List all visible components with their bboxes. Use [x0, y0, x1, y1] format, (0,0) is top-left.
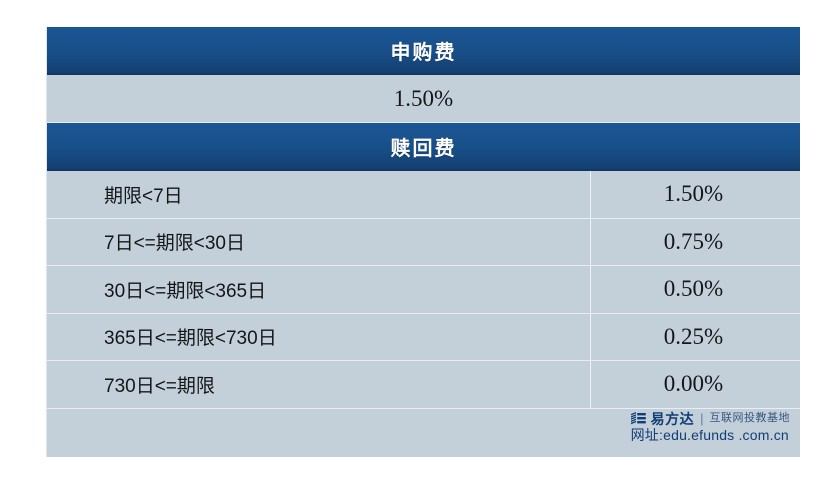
fee-schedule-table: 申购费 1.50% 赎回费 期限<7日 1.50% 7日<=期限<30日 0.7… — [46, 27, 800, 457]
brand-separator: | — [700, 412, 703, 426]
page-canvas: 申购费 1.50% 赎回费 期限<7日 1.50% 7日<=期限<30日 0.7… — [0, 0, 840, 480]
redemption-tier-label: 730日<=期限 — [47, 361, 591, 408]
redemption-tier-value: 0.00% — [591, 361, 800, 408]
redemption-tier-value: 0.50% — [591, 266, 800, 313]
footer-band: 易方达 | 互联网投教基地 网址:edu.efunds .com.cn — [47, 409, 800, 456]
table-row: 30日<=期限<365日 0.50% — [47, 266, 800, 314]
redemption-tier-value: 0.25% — [591, 314, 800, 361]
table-row: 730日<=期限 0.00% — [47, 361, 800, 409]
brand-name: 易方达 — [651, 412, 695, 427]
section-header-redemption-fee: 赎回费 — [47, 123, 800, 171]
redemption-tier-label: 期限<7日 — [47, 171, 591, 218]
subscription-fee-value: 1.50% — [394, 86, 453, 112]
redemption-tier-value: 1.50% — [591, 171, 800, 218]
efunds-logo-icon — [631, 412, 646, 425]
redemption-tier-label: 7日<=期限<30日 — [47, 219, 591, 266]
brand-tagline: 互联网投教基地 — [710, 413, 791, 425]
redemption-tier-label: 365日<=期限<730日 — [47, 314, 591, 361]
table-row: 期限<7日 1.50% — [47, 171, 800, 219]
brand-top-line: 易方达 | 互联网投教基地 — [631, 412, 790, 427]
section-header-subscription-fee: 申购费 — [47, 27, 800, 75]
redemption-fee-rows: 期限<7日 1.50% 7日<=期限<30日 0.75% 30日<=期限<365… — [47, 171, 800, 409]
brand-block: 易方达 | 互联网投教基地 网址:edu.efunds .com.cn — [631, 412, 790, 443]
redemption-tier-value: 0.75% — [591, 219, 800, 266]
brand-url: 网址:edu.efunds .com.cn — [631, 428, 790, 443]
table-row: 7日<=期限<30日 0.75% — [47, 219, 800, 267]
subscription-fee-row: 1.50% — [47, 75, 800, 123]
redemption-tier-label: 30日<=期限<365日 — [47, 266, 591, 313]
table-row: 365日<=期限<730日 0.25% — [47, 314, 800, 362]
